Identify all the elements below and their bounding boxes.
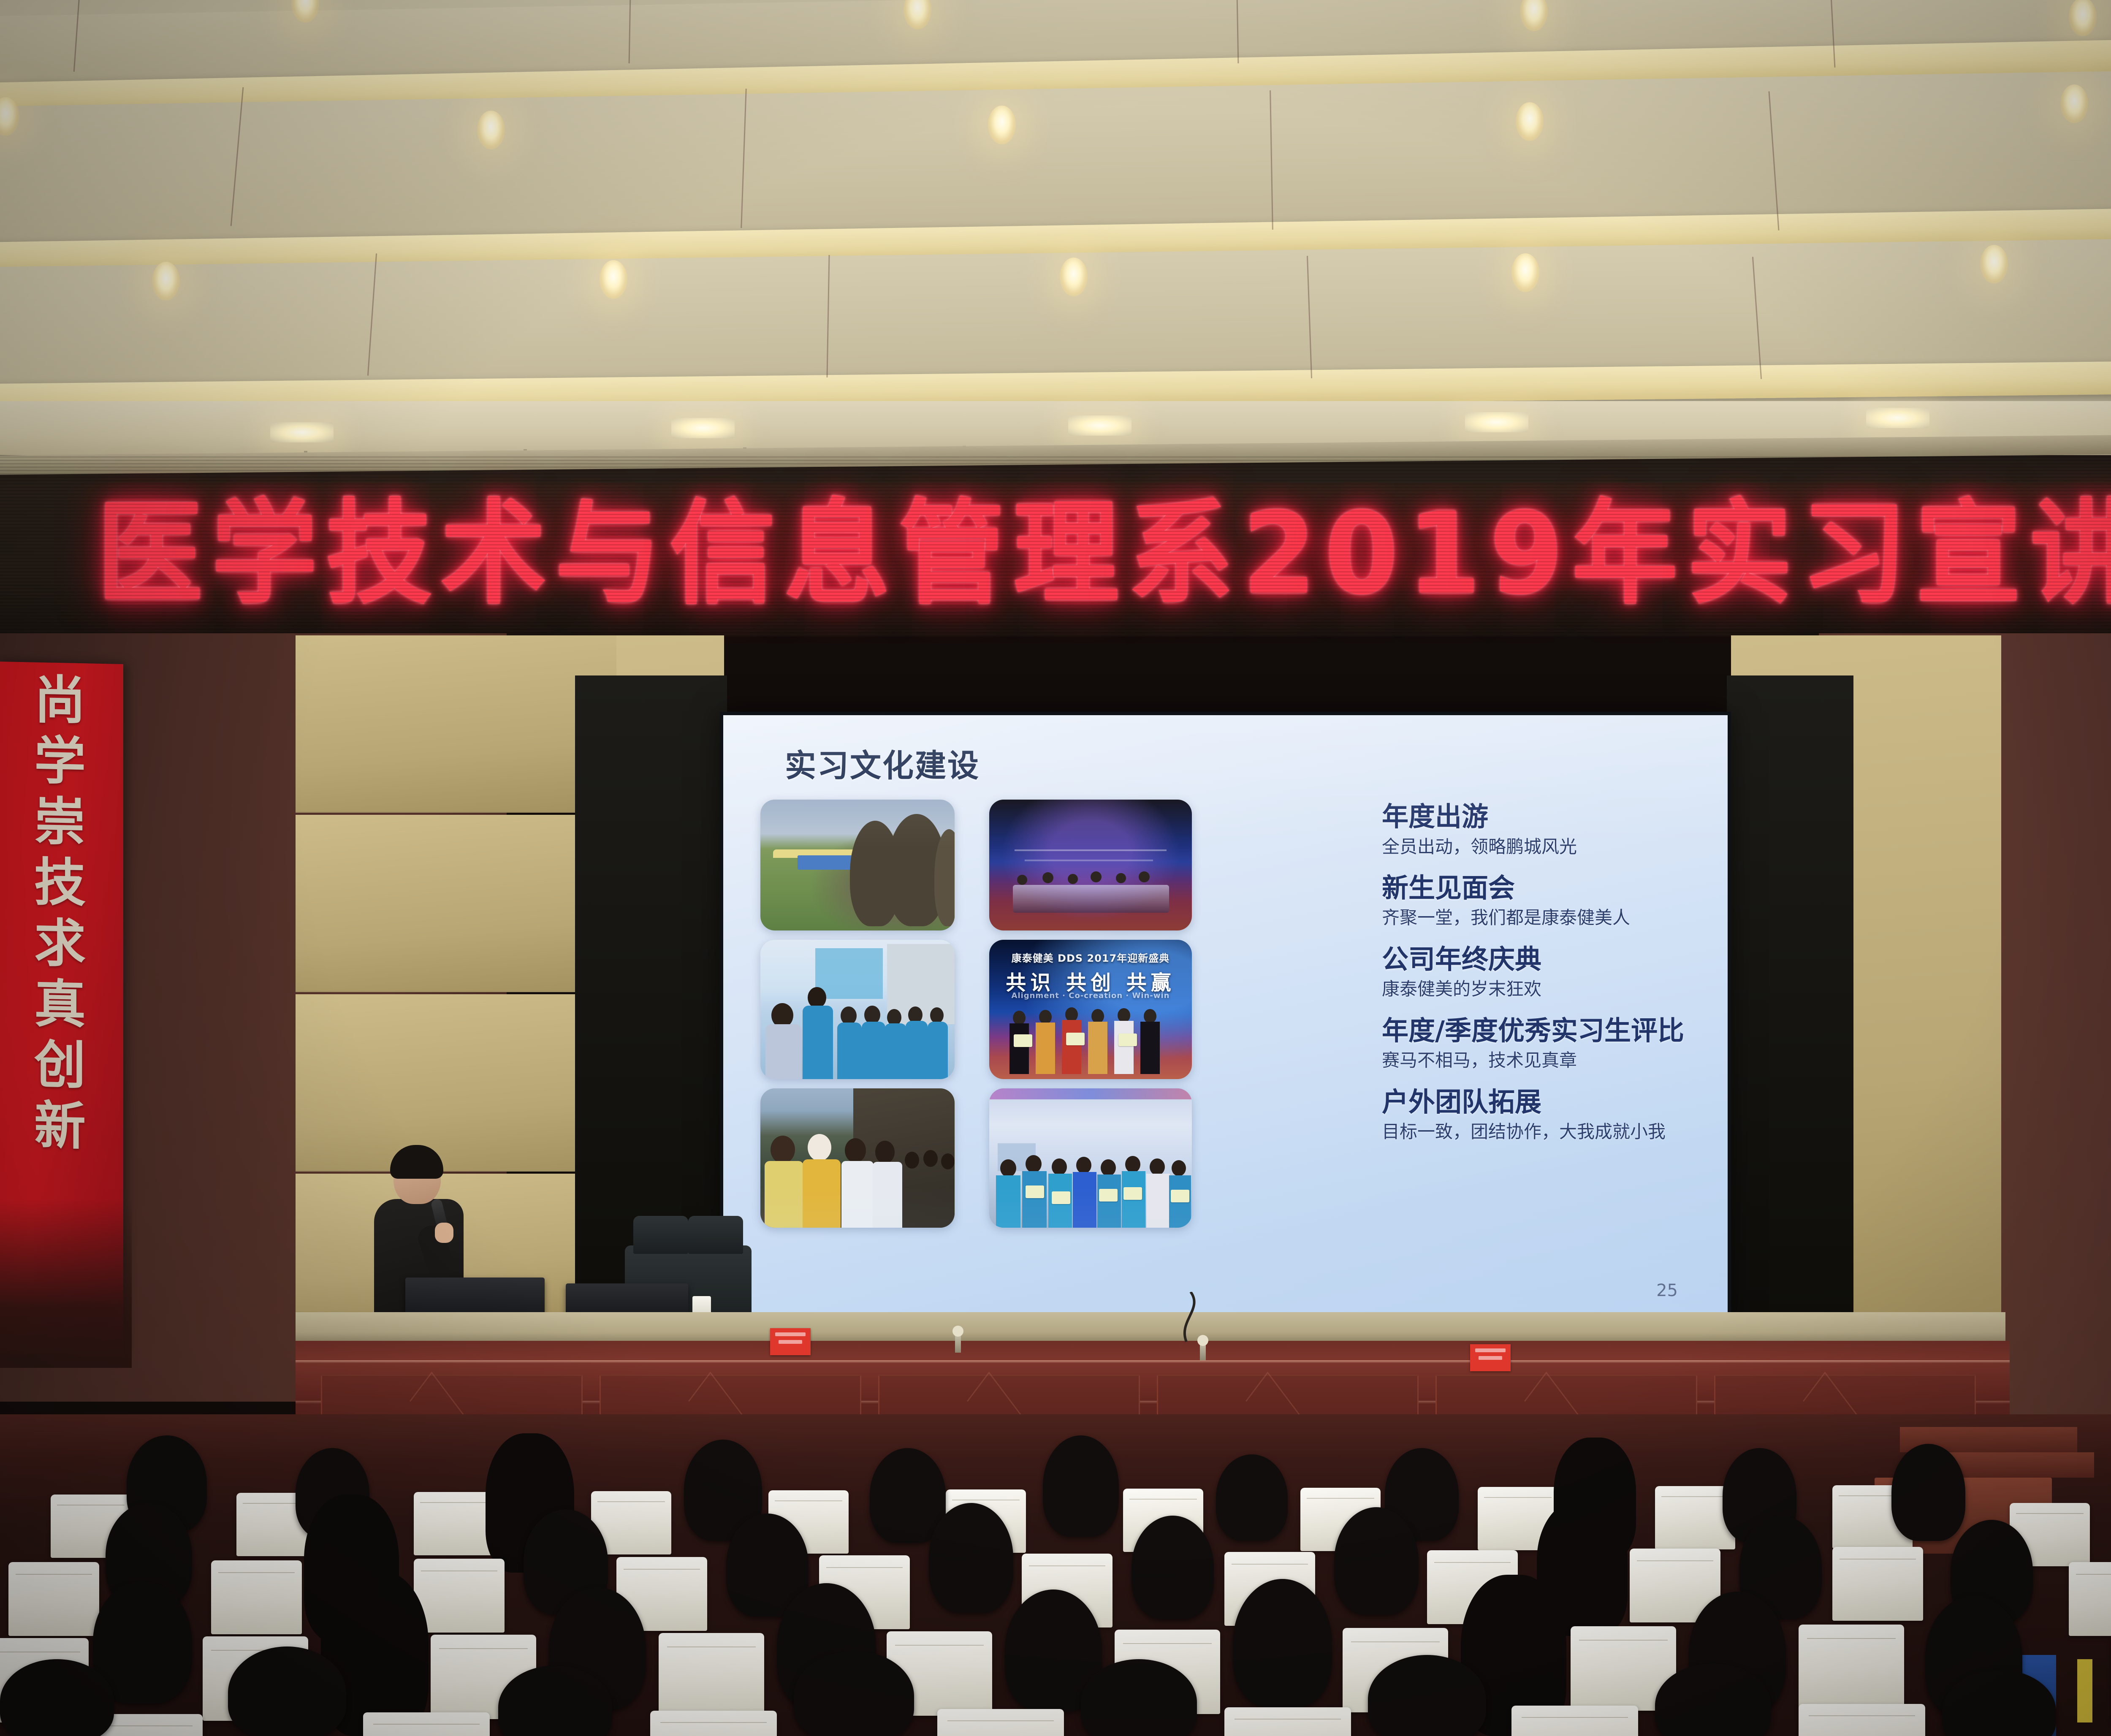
bullet-subtext: 康泰健美的岁末狂欢: [1382, 979, 1715, 1000]
person-body: [873, 1162, 902, 1228]
photo-group-outdoor: [760, 1088, 955, 1228]
led-char: 0: [1325, 497, 1398, 610]
person-head: [1013, 1011, 1026, 1025]
audience-head: [1233, 1579, 1332, 1708]
bullet-subtext: 齐聚一堂，我们都是康泰健美人: [1382, 907, 1715, 928]
audience-chair: [8, 1562, 99, 1636]
ceiling-downlight: [1511, 253, 1539, 292]
audience-chair: [1224, 1707, 1351, 1736]
led-char: 信: [670, 497, 775, 610]
person-body: [837, 1023, 862, 1079]
ceiling-downlight: [1980, 245, 2008, 284]
soffit-wash-light: [671, 418, 735, 438]
certificate: [1099, 1189, 1118, 1202]
banner-shadow-overlay: [0, 1199, 132, 1368]
certificate: [1026, 1185, 1044, 1198]
person-head: [941, 1153, 955, 1169]
bullet-heading: 新生见面会: [1382, 873, 1715, 903]
slide-page-number: 25: [1656, 1281, 1678, 1300]
person-body: [803, 1006, 833, 1079]
person-head: [1039, 1010, 1052, 1024]
wall-panel: [296, 815, 616, 992]
person-body: [841, 1161, 874, 1228]
person-body: [1073, 1172, 1096, 1228]
bullet-subtext: 全员出动，领略鹏城风光: [1382, 836, 1715, 857]
wall-panel: [296, 994, 616, 1172]
person-body: [765, 1024, 802, 1079]
audience-chair: [659, 1633, 764, 1717]
person-head: [1052, 1158, 1067, 1175]
person-head: [905, 1152, 919, 1169]
bullet-item: 户外团队拓展 目标一致，团结协作，大我成就小我: [1382, 1088, 1715, 1143]
photo-annual-gala: 康泰健美 DDS 2017年迎新盛典 共识 共创 共赢 Alignment · …: [989, 940, 1192, 1079]
audience-head: [870, 1448, 946, 1543]
audience-head: [1131, 1516, 1214, 1619]
bullet-heading: 年度/季度优秀实习生评比: [1382, 1016, 1715, 1046]
ceiling-downlight: [2060, 84, 2088, 123]
person-body: [996, 1175, 1020, 1228]
led-char: 实: [1687, 497, 1792, 610]
banner-char: 技: [34, 857, 86, 909]
certificate: [1014, 1034, 1032, 1047]
audience-chair: [211, 1560, 302, 1634]
presenter-hand: [435, 1223, 453, 1243]
person-head: [1150, 1158, 1165, 1175]
led-char: 2: [1243, 497, 1316, 610]
led-char: 讲: [2030, 497, 2111, 610]
led-marquee-text: 医 学 技 术 与 信 息 管 理 系 2 0 1 9 年 实 习 宣 讲 会: [97, 491, 2111, 617]
photo-award-group: [989, 1088, 1192, 1228]
certificate: [1118, 1033, 1137, 1046]
wall-block: [815, 948, 883, 999]
microphone-cable: [1140, 1292, 1250, 1343]
certificate: [1066, 1033, 1085, 1045]
person-head: [1017, 875, 1027, 885]
person-head: [1139, 871, 1150, 882]
led-char: 与: [555, 497, 661, 610]
slide-photo-grid: 康泰健美 DDS 2017年迎新盛典 共识 共创 共赢 Alignment · …: [760, 800, 1343, 1281]
person-body: [1114, 1021, 1134, 1074]
person-hat: [808, 1134, 831, 1161]
wall-panel: [296, 635, 616, 813]
slide-title: 实习文化建设: [785, 741, 980, 786]
person-head: [1042, 872, 1053, 883]
soffit-wash-light: [270, 422, 334, 442]
conference-hall-photo: 医 学 技 术 与 信 息 管 理 系 2 0 1 9 年 实 习 宣 讲 会 …: [0, 0, 2111, 1736]
decor-strip: [989, 1088, 1192, 1099]
projection-screen: 实习文化建设: [720, 712, 1731, 1323]
person-body: [885, 1023, 906, 1079]
gala-caption-title: 康泰健美 DDS 2017年迎新盛典: [989, 950, 1192, 965]
person-head: [1118, 1008, 1130, 1023]
person-body: [803, 1159, 841, 1228]
person-head: [1091, 1009, 1104, 1023]
person-head: [1172, 1160, 1186, 1176]
gala-caption-en: Alignment · Co-creation · Win-win: [989, 991, 1192, 1000]
led-char: 9: [1490, 497, 1563, 610]
bullet-item: 公司年终庆典 康泰健美的岁末狂欢: [1382, 945, 1715, 1000]
stage-molding: [296, 1360, 2010, 1363]
audience-chair: [1832, 1547, 1923, 1621]
person-body: [1088, 1022, 1107, 1074]
person-head: [1000, 1159, 1016, 1177]
stage-text-line: [1025, 860, 1153, 861]
bullet-subtext: 目标一致，团结协作，大我成就小我: [1382, 1121, 1715, 1142]
photo-stage-ceremony: [989, 800, 1192, 930]
stage-curtain-right: [1727, 675, 1853, 1317]
audience-chair: [937, 1709, 1064, 1736]
ceiling: [0, 0, 2111, 460]
person-head: [1068, 874, 1078, 884]
audience-chair: [1511, 1706, 1638, 1736]
bullet-heading: 公司年终庆典: [1382, 945, 1715, 975]
audience-head: [1043, 1435, 1119, 1537]
table-name-card: [770, 1328, 811, 1355]
person-body: [906, 1021, 928, 1079]
person-head: [1026, 1155, 1042, 1173]
audience-chair: [414, 1492, 494, 1555]
ceiling-downlight: [988, 106, 1016, 144]
bullet-heading: 年度出游: [1382, 802, 1715, 832]
audience-head: [1334, 1507, 1419, 1615]
person-head: [1125, 1156, 1140, 1173]
person-head: [1091, 871, 1102, 882]
ceiling-downlight: [152, 262, 180, 301]
led-char: 技: [326, 497, 432, 610]
audience-head: [1891, 1444, 1965, 1541]
audience-chair: [363, 1712, 490, 1736]
banner-char: 创: [34, 1039, 86, 1092]
led-char: 管: [899, 497, 1004, 610]
audience-head: [1216, 1454, 1288, 1541]
person-body: [1022, 1171, 1047, 1228]
audience-head: [929, 1503, 1013, 1613]
presentation-slide: 实习文化建设: [723, 715, 1728, 1320]
person-head: [845, 1138, 866, 1163]
audience-chair: [1799, 1625, 1904, 1709]
ceiling-downlight: [1516, 102, 1544, 141]
photo-uniform-lineup: [760, 940, 955, 1079]
person-head: [875, 1141, 895, 1164]
ceiling-downlight: [1060, 258, 1088, 296]
audience-chair: [2069, 1562, 2111, 1636]
person-body: [1036, 1023, 1055, 1074]
person-head: [771, 1136, 795, 1164]
person-head: [808, 987, 826, 1008]
desk-microphone-head: [952, 1326, 963, 1337]
yellow-tag: [2077, 1659, 2092, 1722]
ceiling-downlight: [477, 111, 505, 149]
led-char: 宣: [1916, 497, 2021, 610]
led-char: 习: [1801, 497, 1907, 610]
person-head: [1116, 873, 1126, 883]
presenter-hair: [390, 1145, 443, 1179]
banner-char: 学: [34, 735, 86, 788]
banner-char: 崇: [34, 796, 86, 849]
led-char: 学: [212, 497, 317, 610]
led-char: 系: [1128, 497, 1233, 610]
person-body: [928, 1022, 948, 1079]
audience-head: [794, 1651, 914, 1736]
table-name-card: [1470, 1344, 1511, 1371]
photo-outing-field: [760, 800, 955, 930]
person-body: [765, 1161, 803, 1228]
person-head: [1076, 1157, 1091, 1174]
person-head: [923, 1150, 938, 1167]
person-body: [1062, 1020, 1081, 1074]
person-body: [1146, 1174, 1170, 1228]
stage-text-line: [1015, 849, 1167, 851]
person-head: [1101, 1159, 1116, 1176]
person-body: [1140, 1022, 1160, 1074]
soffit-wash-light: [1068, 415, 1131, 436]
stage-chair-back: [633, 1216, 688, 1254]
person-head: [1144, 1009, 1156, 1023]
person-head: [930, 1007, 944, 1023]
banner-char: 求: [34, 917, 86, 970]
person-body: [1009, 1023, 1029, 1074]
led-char: 理: [1013, 497, 1119, 610]
certificate: [1123, 1187, 1142, 1200]
banner-char: 新: [34, 1100, 86, 1153]
led-char: 术: [441, 497, 546, 610]
audience-chair: [1799, 1704, 1925, 1736]
led-char: 医: [97, 497, 203, 610]
led-char: 息: [784, 497, 890, 610]
led-char: 年: [1572, 497, 1678, 610]
stage-chair-back: [688, 1216, 743, 1254]
soffit-wash-light: [1866, 408, 1929, 428]
bullet-item: 年度出游 全员出动，领略鹏城风光: [1382, 802, 1715, 857]
bullet-heading: 户外团队拓展: [1382, 1088, 1715, 1118]
banner-char: 尚: [34, 674, 86, 727]
soffit-wash-light: [1465, 412, 1528, 432]
bullet-subtext: 赛马不相马，技术见真章: [1382, 1050, 1715, 1071]
audience-head: [228, 1646, 346, 1736]
certificate: [1171, 1190, 1189, 1202]
person-head: [1065, 1007, 1078, 1022]
banner-char: 真: [34, 978, 86, 1031]
certificate: [1052, 1191, 1070, 1204]
audience-chair: [650, 1711, 777, 1736]
audience-chair: [414, 1559, 505, 1633]
person-body: [862, 1022, 885, 1079]
slide-bullet-list: 年度出游 全员出动，领略鹏城风光 新生见面会 齐聚一堂，我们都是康泰健美人 公司…: [1382, 802, 1715, 1159]
bullet-item: 年度/季度优秀实习生评比 赛马不相马，技术见真章: [1382, 1016, 1715, 1071]
ceiling-downlight: [600, 260, 627, 299]
person-row: [1013, 885, 1169, 913]
led-char: 1: [1407, 497, 1481, 610]
bullet-item: 新生见面会 齐聚一堂，我们都是康泰健美人: [1382, 873, 1715, 929]
